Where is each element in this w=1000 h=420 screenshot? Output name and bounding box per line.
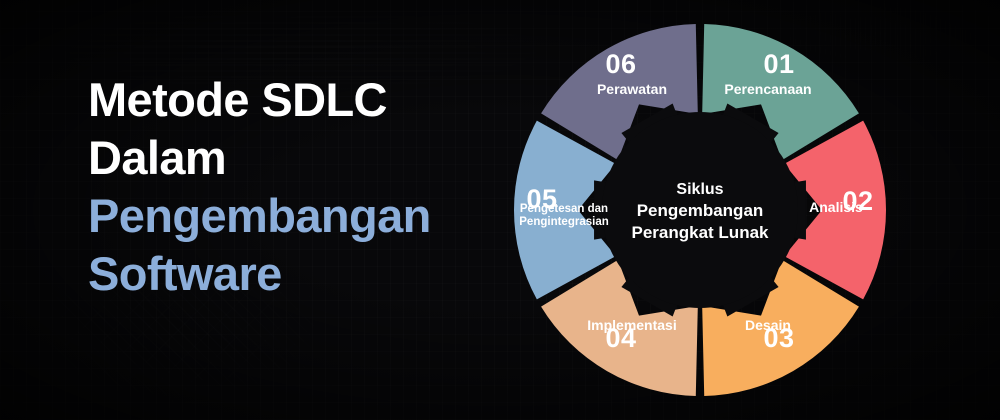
segment-number-01: 01: [763, 49, 794, 79]
hub-text-line-1: Siklus: [676, 181, 723, 198]
segment-label-03: Desain: [745, 317, 791, 333]
segment-label-06: Perawatan: [597, 81, 667, 97]
segment-label-04: Implementasi: [587, 317, 676, 333]
segment-label-05: Pengintegrasian: [519, 216, 608, 228]
headline-block: Metode SDLC Dalam Pengembangan Software: [88, 76, 518, 308]
headline-line-3: Pengembangan: [88, 192, 518, 239]
headline-line-4: Software: [88, 250, 518, 297]
hub-text-line-3: Perangkat Lunak: [632, 223, 770, 242]
hub-text-line-2: Pengembangan: [637, 201, 764, 220]
headline-line-2: Dalam: [88, 134, 518, 181]
segment-label-02: Analisis: [809, 199, 863, 215]
segment-label-01: Perencanaan: [724, 81, 811, 97]
headline-line-1: Metode SDLC: [88, 76, 518, 123]
sdlc-cycle-wheel: 01Perencanaan02Analisis03Desain04Impleme…: [514, 24, 886, 396]
segment-number-06: 06: [605, 49, 636, 79]
segment-label-05: Pengetesan dan: [520, 203, 608, 215]
sdlc-banner: Metode SDLC Dalam Pengembangan Software …: [0, 0, 1000, 420]
